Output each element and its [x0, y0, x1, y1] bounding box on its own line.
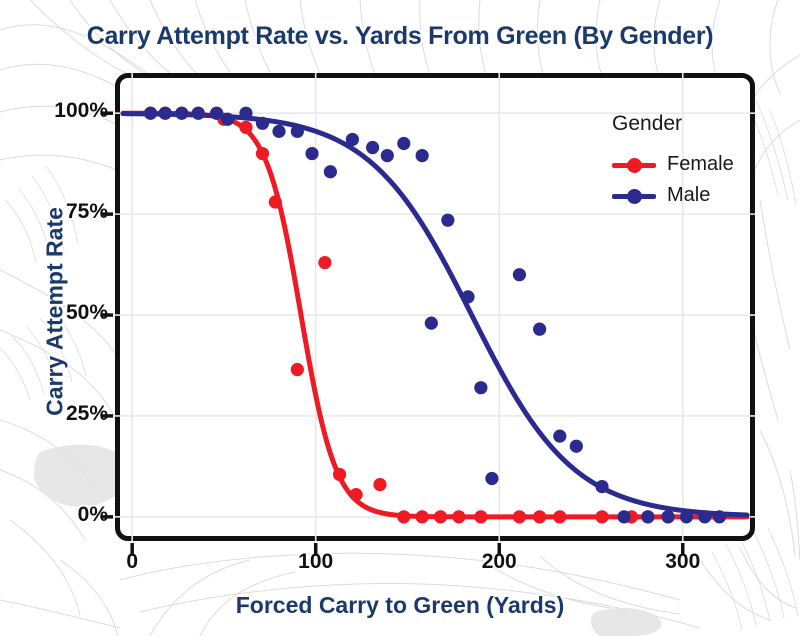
data-point [373, 478, 386, 491]
data-point [318, 256, 331, 269]
data-point [175, 107, 188, 120]
data-point [680, 510, 693, 523]
data-point [553, 430, 566, 443]
data-point [192, 107, 205, 120]
data-point [346, 133, 359, 146]
y-tick-label: 75% [34, 200, 108, 224]
data-point [324, 165, 337, 178]
data-point [333, 468, 346, 481]
data-point [617, 510, 630, 523]
chart-title: Carry Attempt Rate vs. Yards From Green … [0, 22, 800, 51]
x-tick-label: 300 [643, 550, 723, 574]
data-point [713, 510, 726, 523]
data-point [513, 268, 526, 281]
legend-marker-icon [612, 156, 656, 174]
data-point [570, 440, 583, 453]
data-point [441, 214, 454, 227]
data-point [269, 195, 282, 208]
data-point [425, 317, 438, 330]
data-point [434, 510, 447, 523]
data-point [256, 117, 269, 130]
x-tick-label: 200 [459, 550, 539, 574]
data-point [533, 323, 546, 336]
data-point [239, 121, 252, 134]
data-point [381, 149, 394, 162]
data-point [159, 107, 172, 120]
data-point [698, 510, 711, 523]
data-point [595, 480, 608, 493]
data-point [144, 107, 157, 120]
data-point [397, 137, 410, 150]
x-axis-title: Forced Carry to Green (Yards) [0, 592, 800, 619]
legend-label: Male [667, 184, 710, 207]
data-point [461, 290, 474, 303]
x-tick-label: 100 [276, 550, 356, 574]
data-point [349, 488, 362, 501]
data-point [452, 510, 465, 523]
y-tick-label: 50% [34, 301, 108, 325]
legend: Gender FemaleMale [612, 112, 747, 211]
data-point [272, 125, 285, 138]
data-point [553, 510, 566, 523]
y-tick-label: 25% [34, 402, 108, 426]
legend-title: Gender [612, 112, 747, 136]
data-point [366, 141, 379, 154]
data-point [641, 510, 654, 523]
data-point [595, 510, 608, 523]
legend-entry-male[interactable]: Male [612, 180, 747, 211]
data-point [513, 510, 526, 523]
data-point [291, 363, 304, 376]
data-point [239, 107, 252, 120]
legend-label: Female [667, 153, 734, 176]
data-point [397, 510, 410, 523]
data-point [221, 113, 234, 126]
data-point [661, 510, 674, 523]
legend-entry-female[interactable]: Female [612, 149, 747, 180]
y-tick-label: 0% [34, 503, 108, 527]
data-point [533, 510, 546, 523]
y-tick-label: 100% [34, 99, 108, 123]
x-tick-label: 0 [92, 550, 172, 574]
data-point [485, 472, 498, 485]
data-point [474, 381, 487, 394]
data-point [416, 149, 429, 162]
legend-marker-icon [612, 187, 656, 205]
data-point [474, 510, 487, 523]
data-point [291, 125, 304, 138]
data-point [305, 147, 318, 160]
data-point [416, 510, 429, 523]
data-point [256, 147, 269, 160]
